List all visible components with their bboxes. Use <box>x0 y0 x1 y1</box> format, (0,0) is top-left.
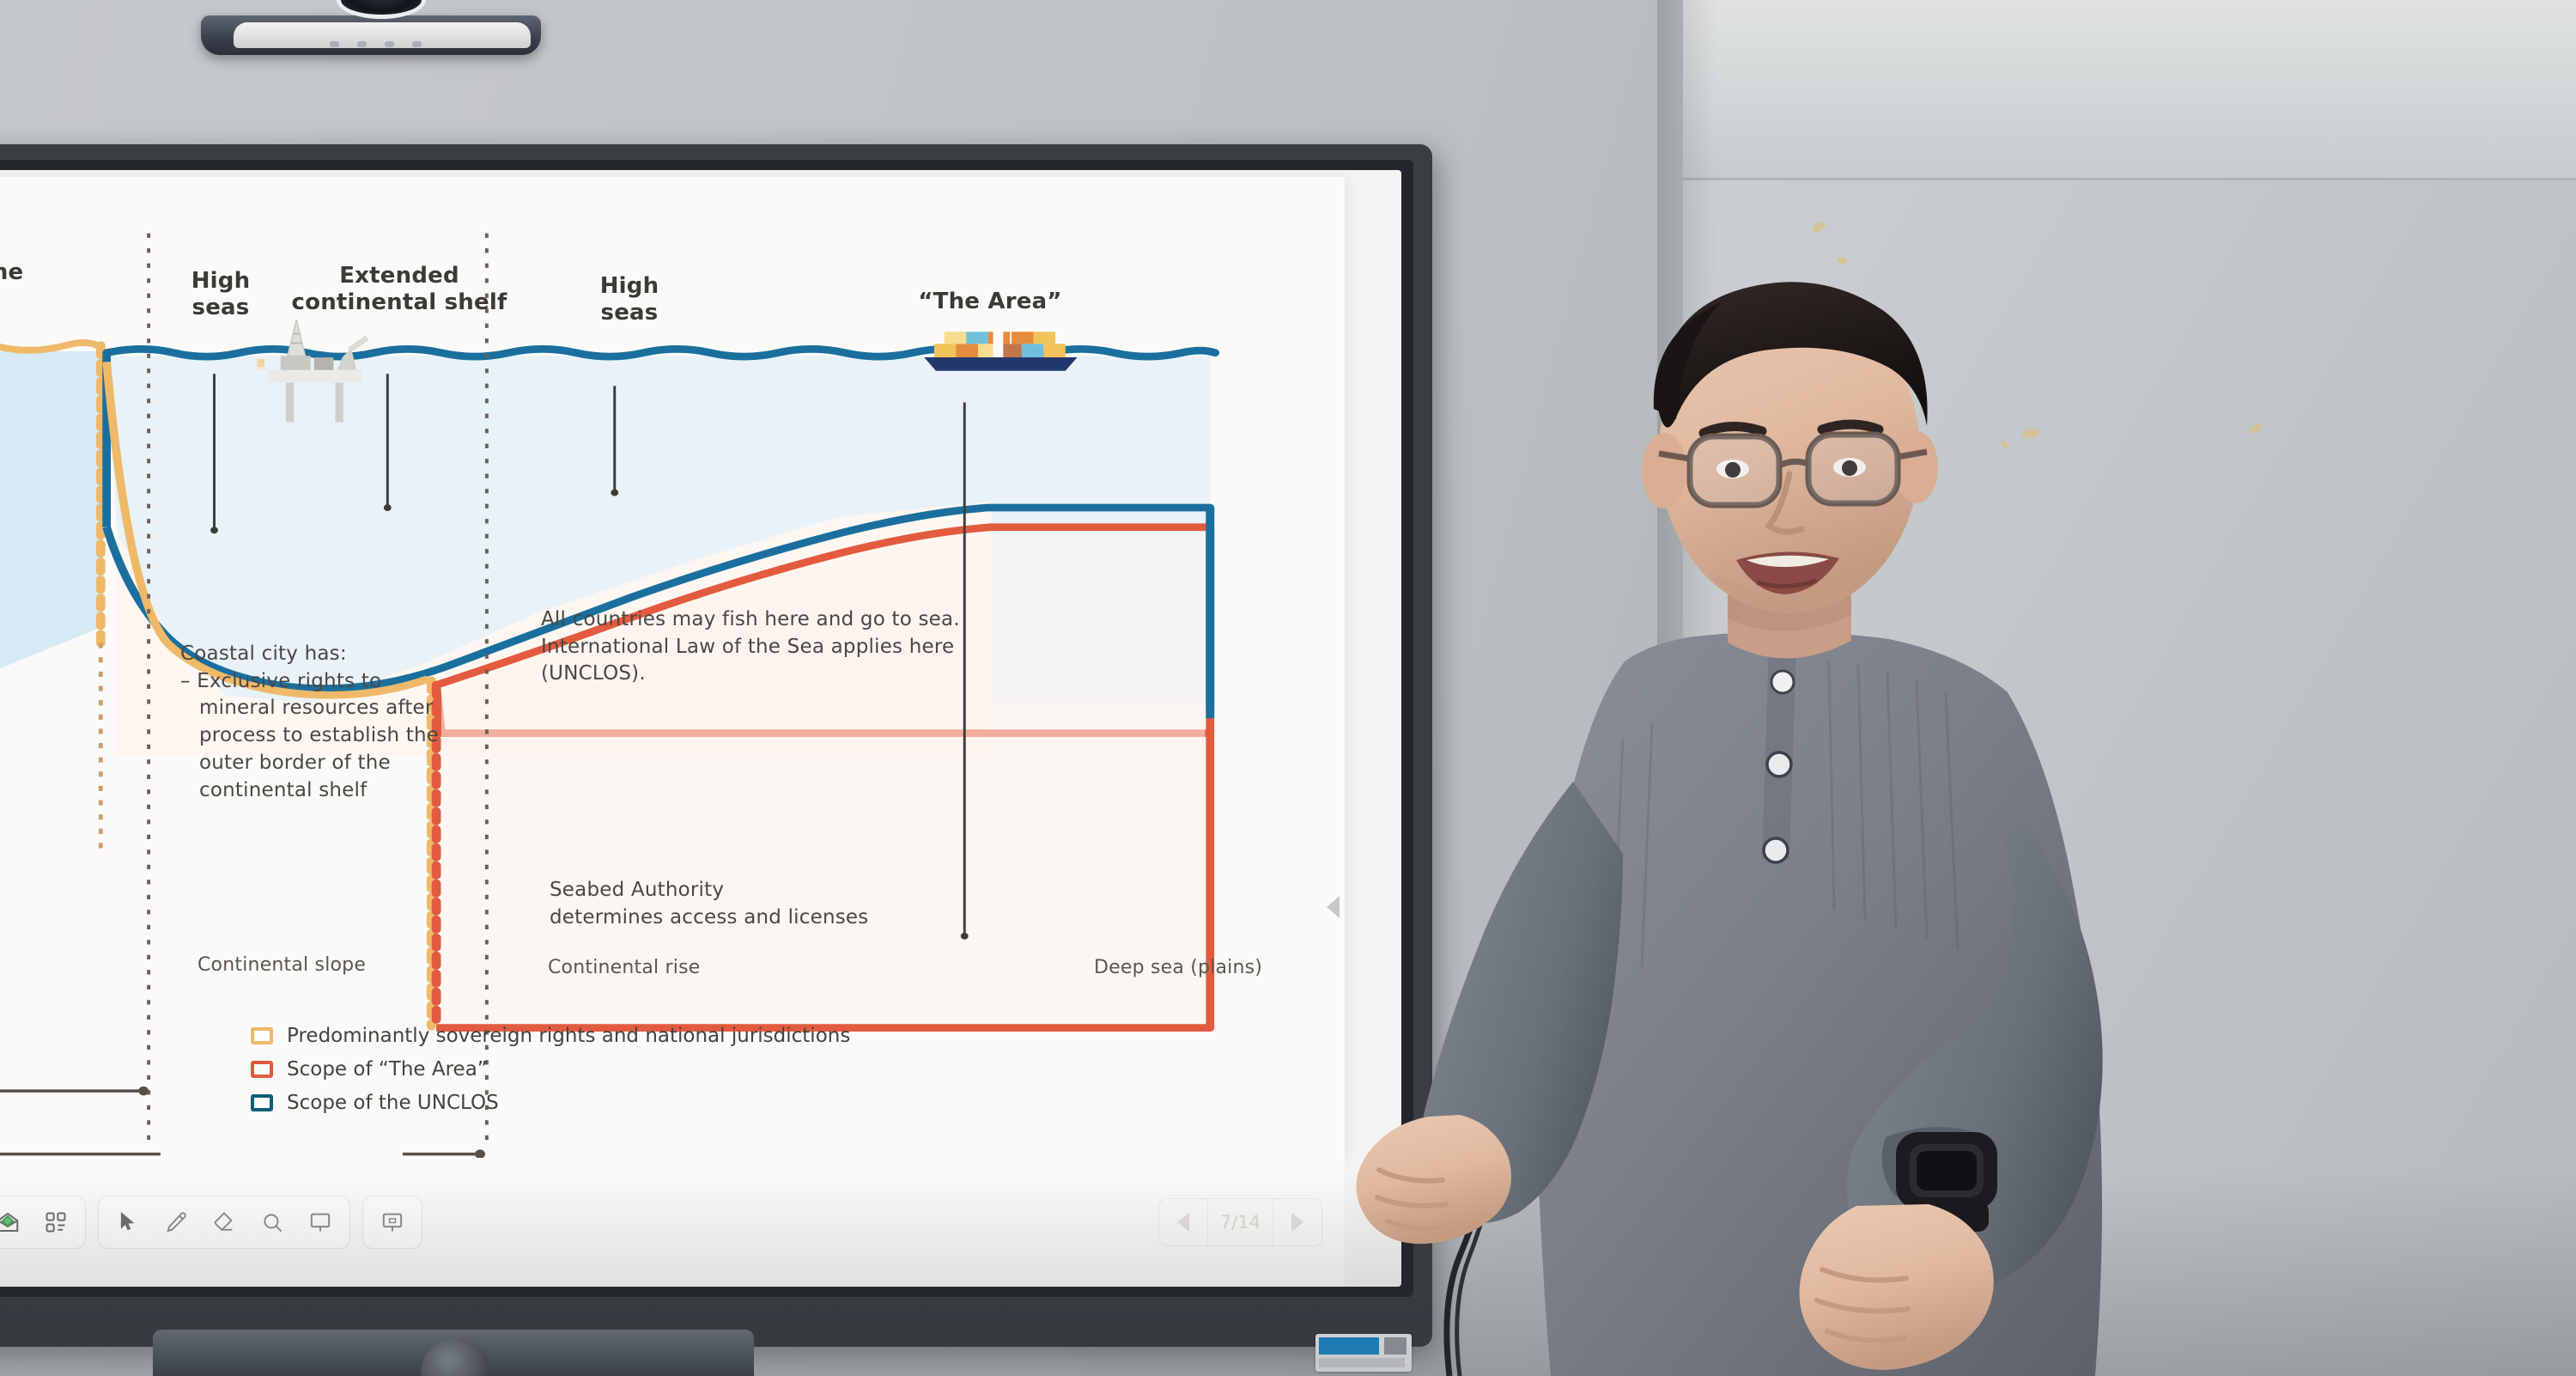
video-conference-camera <box>191 0 551 55</box>
panel-collapse-arrow[interactable] <box>1327 896 1340 918</box>
camera-status-led <box>412 41 422 47</box>
camera-shell <box>234 22 531 48</box>
whiteboard-canvas[interactable]: conomic Zone EZ) High seas Extended cont… <box>0 170 1401 1287</box>
presenter <box>1340 258 2250 1376</box>
legend-label: Predominantly sovereign rights and natio… <box>287 1025 850 1047</box>
legend-swatch-sovereign-icon <box>251 1027 273 1044</box>
zone-label-high-seas-2: High seas <box>574 273 685 326</box>
legend-item: Scope of the UNCLOS <box>251 1092 850 1114</box>
seafloor-label-deep-sea: Deep sea (plains) <box>1094 957 1262 978</box>
zone-label-high-seas-1: High seas <box>165 268 276 320</box>
ceiling-soffit <box>1683 0 2576 180</box>
seafloor-label-continental-slope: Continental slope <box>197 954 366 976</box>
shirt-button <box>1764 838 1788 862</box>
camera-status-led <box>330 41 339 47</box>
camera-status-led <box>357 41 367 47</box>
note-high-seas: All countries may fish here and go to se… <box>541 606 1048 688</box>
shirt-button <box>1771 671 1794 693</box>
shirt-button <box>1767 752 1791 776</box>
screenshot-root: conomic Zone EZ) High seas Extended cont… <box>0 0 2576 1376</box>
note-coastal-city: Coastal city has: – Exclusive rights to … <box>180 641 447 804</box>
unclos-diagram: conomic Zone EZ) High seas Extended cont… <box>0 177 1345 1158</box>
seafloor-label-continental-rise: Continental rise <box>548 957 701 978</box>
legend-swatch-area-icon <box>251 1061 273 1078</box>
zone-label-extended-shelf: Extended continental shelf <box>275 263 524 315</box>
diagram-legend: Predominantly sovereign rights and natio… <box>251 1025 850 1125</box>
legend-label: Scope of “The Area” <box>287 1058 488 1081</box>
zone-label-the-area: “The Area” <box>883 289 1097 315</box>
legend-item: Predominantly sovereign rights and natio… <box>251 1025 850 1047</box>
note-coastal-country: try has: sheries rights ghts to mineral <box>0 606 105 688</box>
camera-body <box>201 15 541 55</box>
legend-swatch-unclos-icon <box>251 1094 273 1111</box>
display-screen[interactable]: conomic Zone EZ) High seas Extended cont… <box>0 170 1401 1287</box>
slide-page[interactable]: conomic Zone EZ) High seas Extended cont… <box>0 177 1345 1158</box>
camera-status-led <box>385 41 394 47</box>
legend-label: Scope of the UNCLOS <box>287 1092 499 1114</box>
note-seabed-authority: Seabed Authority determines access and l… <box>550 877 996 931</box>
interactive-display: conomic Zone EZ) High seas Extended cont… <box>0 144 1432 1347</box>
legend-item: Scope of “The Area” <box>251 1058 850 1081</box>
container-ship-icon <box>924 326 1077 371</box>
zone-label-eez: conomic Zone EZ) <box>0 259 105 312</box>
